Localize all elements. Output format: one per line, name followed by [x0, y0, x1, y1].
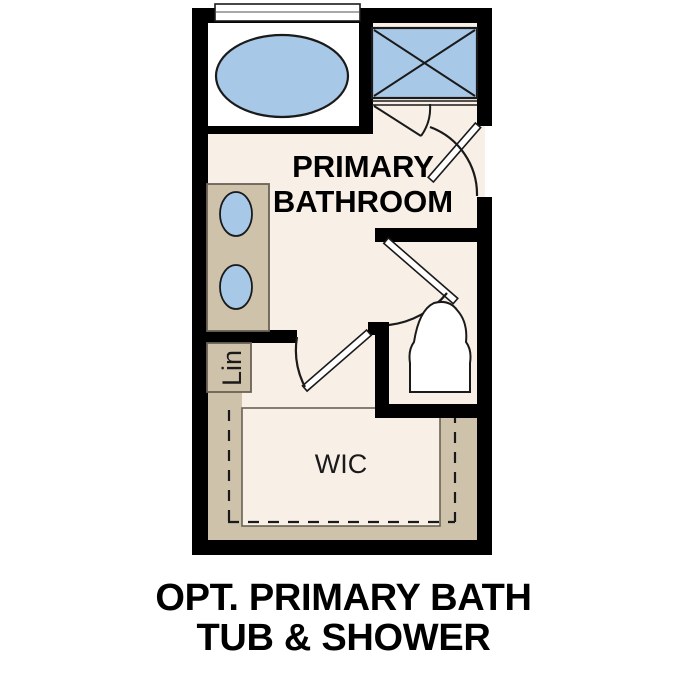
sink-basin-upper — [220, 192, 252, 236]
wall-wic-door-jamb — [368, 322, 389, 335]
wall-bath-wic-left — [200, 330, 297, 343]
primary-bathroom-label-line2: BATHROOM — [273, 184, 453, 219]
sink-basin-lower — [220, 265, 252, 309]
linen-closet-label: Lin — [217, 350, 247, 386]
plan-caption: OPT. PRIMARY BATH TUB & SHOWER — [0, 578, 687, 659]
double-vanity-icon — [207, 184, 269, 331]
wall-exterior-left — [192, 8, 208, 555]
window-icon — [215, 4, 360, 21]
wall-tub-alcove-divider — [359, 20, 373, 132]
wall-tub-alcove-bottom — [200, 126, 373, 134]
shower-stall-icon — [372, 28, 477, 105]
wall-exterior-right-upper — [477, 8, 492, 126]
wall-exterior-bottom — [192, 540, 492, 555]
primary-bathroom-label-line1: PRIMARY — [292, 149, 434, 184]
wall-wc-left — [375, 322, 389, 418]
bathtub-icon — [216, 35, 348, 117]
caption-line-1: OPT. PRIMARY BATH — [0, 578, 687, 618]
linen-closet: Lin — [207, 343, 251, 392]
floor-plan-root: Lin PRIMARY BATHROOM WIC OPT. PRIMARY BA… — [0, 0, 687, 687]
wic-label: WIC — [315, 449, 367, 479]
caption-line-2: TUB & SHOWER — [0, 618, 687, 658]
wall-wc-bottom — [375, 404, 483, 418]
wall-exterior-right-lower — [477, 197, 492, 555]
